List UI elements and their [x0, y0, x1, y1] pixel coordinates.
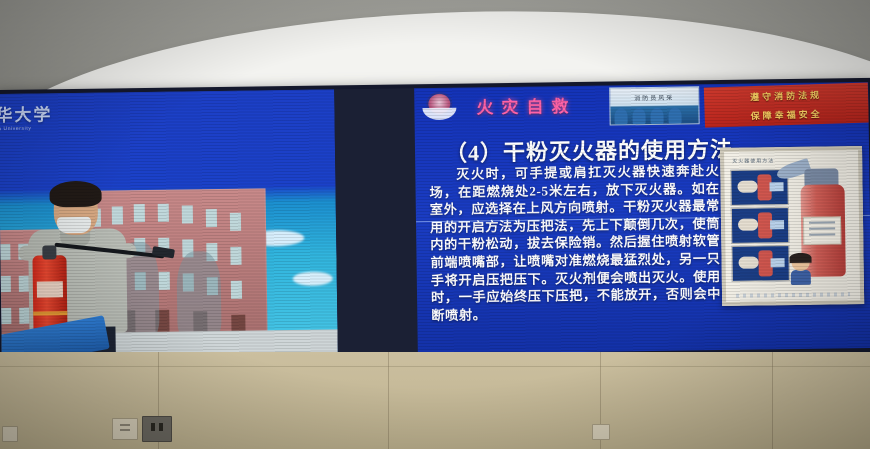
firefighters-photo-caption: 消防员风采 — [610, 92, 698, 102]
tsinghua-watermark: 清华大学 Tsinghua University — [0, 105, 69, 144]
slide-header: 火灾自救 消防员风采 遵守消防法规 保障幸福安全 — [414, 82, 869, 132]
screenshot-root: 清华大学 Tsinghua University — [0, 0, 870, 449]
panel-presentation-slide: 火灾自救 消防员风采 遵守消防法规 保障幸福安全 （4）干粉灭火器的使用方法 灭… — [414, 82, 870, 354]
slogan-line-2: 保障幸福安全 — [704, 102, 869, 126]
wall-corner-plate[interactable] — [2, 426, 18, 442]
slide-body-text: 灭火时，可手提或肩扛灭火器快速奔赴火场，在距燃烧处2-5米左右，放下灭火器。如在… — [429, 162, 721, 324]
poster-caption: 灭火器使用方法 — [732, 157, 774, 165]
slogan-banner: 遵守消防法规 保障幸福安全 — [704, 83, 869, 128]
poster-footer-text — [736, 292, 850, 298]
wall-seam-horizontal — [0, 366, 870, 367]
fire-police-emblem-icon — [422, 92, 456, 124]
presenter-face-mask — [57, 217, 91, 233]
wall-small-plate[interactable] — [592, 424, 610, 440]
wall-power-outlet[interactable] — [142, 416, 172, 442]
tsinghua-watermark-cn: 清华大学 — [0, 105, 69, 126]
tsinghua-watermark-en: Tsinghua University — [0, 125, 69, 132]
lower-wall-panel — [0, 352, 870, 449]
firefighters-photo: 消防员风采 — [609, 86, 700, 125]
slide-body-content: 灭火时，可手提或肩扛灭火器快速奔赴火场，在距燃烧处2-5米左右，放下灭火器。如在… — [429, 163, 721, 323]
screen-dark-gap — [334, 88, 418, 355]
poster-step-2 — [731, 207, 789, 244]
slide-header-title: 火灾自救 — [476, 92, 576, 118]
led-video-wall: 清华大学 Tsinghua University — [0, 78, 870, 366]
poster-cartoon-child — [787, 255, 813, 285]
poster-step-3 — [731, 245, 789, 282]
poster-extinguisher-label — [803, 216, 841, 245]
wall-data-plate[interactable] — [112, 418, 138, 440]
extinguisher-usage-poster: 灭火器使用方法 — [720, 146, 864, 306]
extinguisher-band — [33, 311, 67, 315]
extinguisher-label — [37, 281, 63, 297]
panel-live-camera: 清华大学 Tsinghua University — [0, 89, 338, 360]
extinguisher-valve — [42, 245, 56, 259]
presenter-hair — [49, 181, 101, 208]
wall-seam-vertical — [388, 352, 389, 449]
wall-seam-vertical — [772, 352, 773, 449]
tree — [176, 251, 221, 340]
